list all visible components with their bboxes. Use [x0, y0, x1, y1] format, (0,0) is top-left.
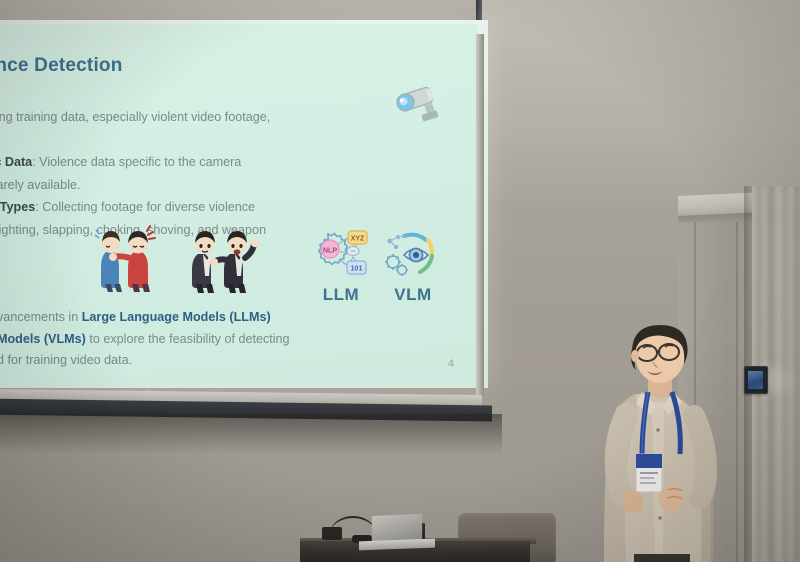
presentation-scene-photo: n Violence Detection cit	[0, 0, 800, 562]
projection-screen: n Violence Detection cit	[0, 20, 488, 388]
solution-body: e recent advancements in Large Language …	[0, 308, 478, 373]
bullet-bold: ent-Specific Data	[0, 155, 32, 169]
people-fighting-illustration-2	[184, 222, 260, 294]
slide-page-number: 4	[448, 358, 454, 370]
slide-title: n Violence Detection	[0, 55, 123, 77]
bullet-line: ing.	[0, 131, 478, 150]
solution-bold: Language Models (VLMs)	[0, 332, 86, 346]
solution-line: e recent advancements in Large Language …	[0, 308, 478, 327]
llm-icon-group: NLP XYZ 101	[310, 228, 372, 302]
vlm-icon-group: VLM	[380, 228, 446, 302]
solution-line: out the need for training video data.	[0, 351, 478, 370]
solution-line: Language Models (VLMs) to explore the fe…	[0, 330, 478, 349]
solution-text: e recent advancements in	[0, 310, 82, 324]
wall-panel-screen[interactable]	[748, 371, 763, 389]
surface-tablet[interactable]	[369, 515, 431, 545]
bullet-bold: in Violence Types	[0, 200, 35, 214]
bullet-text: : Violence data specific to the camera	[32, 155, 241, 169]
vlm-label: VLM	[380, 285, 446, 305]
wall-control-panel[interactable]	[744, 366, 768, 394]
ceiling-soffit	[476, 0, 800, 200]
solution-text: out the need for training video data.	[0, 353, 132, 367]
solution-text: to explore the feasibility of detecting	[86, 332, 290, 346]
solution-bold: Large Language Models (LLMs)	[82, 310, 271, 324]
bullet-line: ronment is rarely available.	[0, 176, 478, 195]
llm-core-label: NLP	[323, 246, 338, 255]
bullet-line: city: Obtaining training data, especiall…	[0, 108, 478, 127]
screen-drop-shadow	[0, 414, 502, 454]
llm-icon: NLP XYZ 101	[310, 228, 372, 280]
bullet-text: : Obtaining training data, especially vi…	[0, 110, 270, 124]
bullet-line: ent-Specific Data: Violence data specifi…	[0, 153, 478, 172]
llm-badge-101: 101	[351, 266, 363, 273]
screen-right-edge	[476, 34, 484, 396]
clickshare-dongle[interactable]	[322, 527, 342, 540]
bullet-text: ronment is rarely available.	[0, 178, 81, 192]
llm-label: LLM	[310, 285, 372, 305]
llm-badge-xyz: XYZ	[351, 236, 365, 243]
conference-badge	[636, 454, 662, 492]
presenter	[590, 318, 740, 562]
slide-content: n Violence Detection cit	[0, 24, 478, 384]
people-fighting-illustration-1	[90, 222, 170, 294]
bullet-text: : Collecting footage for diverse violenc…	[35, 200, 255, 214]
bullet-line: in Violence Types: Collecting footage fo…	[0, 198, 478, 217]
vlm-icon	[380, 228, 446, 280]
